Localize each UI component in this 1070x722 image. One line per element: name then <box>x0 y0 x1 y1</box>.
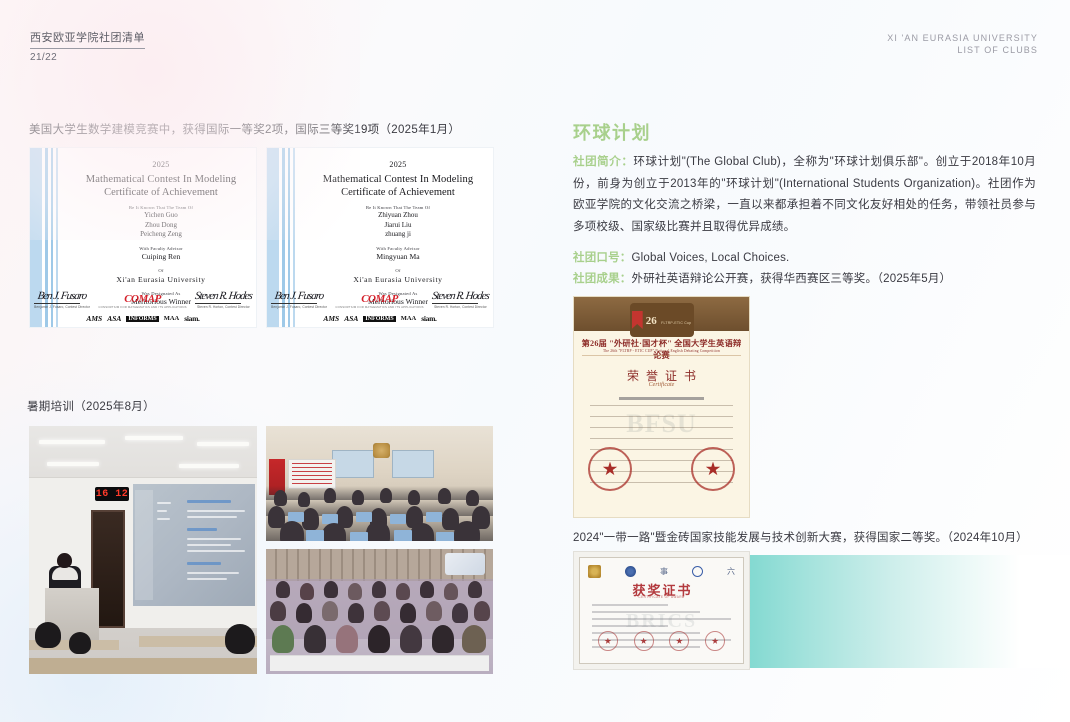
official-seal <box>669 631 689 651</box>
star-icon <box>604 638 611 645</box>
certificate-member: Zhou Dong <box>74 221 248 230</box>
star-icon <box>712 638 719 645</box>
certificate-advisor-label: With Faculty Advisor <box>311 246 485 251</box>
club-slogan-row: 社团口号：Global Voices, Local Choices. <box>573 248 1036 269</box>
siam-logo: siam. <box>421 314 436 323</box>
globe-icon <box>625 566 636 577</box>
certificate-title-line2: Certificate of Achievement <box>311 187 485 198</box>
digital-clock: 16 12 <box>95 487 129 501</box>
signature-right: Steven R. Hodes <box>431 290 489 302</box>
ribbon-icon <box>632 311 643 329</box>
right-column: 环球计划 社团简介：环球计划"(The Global Club)，全称为"环球计… <box>540 0 1070 722</box>
star-icon <box>676 638 683 645</box>
certificate-organization: Xi'an Eurasia University <box>74 275 248 284</box>
summer-training-caption: 暑期培训（2025年8月） <box>27 398 155 414</box>
certificate-member: Yichen Guo <box>74 211 248 220</box>
debate-certificate-photo: 26 FLTRP-ETIC Cup 第26届 "外研社·国才杯" 全国大学生英语… <box>573 296 750 518</box>
chinese-character-logo: 事 <box>660 566 668 577</box>
header-left: 西安欧亚学院社团清单 21/22 <box>30 28 145 63</box>
club-intro-text: 环球计划"(The Global Club)，全称为"环球计划俱乐部"。创立于2… <box>573 156 1036 233</box>
mcm-certificate-1: 2025 Mathematical Contest In Modeling Ce… <box>29 147 257 328</box>
certificate-team-intro: Be It Known That The Team Of <box>74 205 248 210</box>
club-achievement-row: 社团成果：外研社英语辩论公开赛，获得华西赛区三等奖。（2025年5月） <box>573 269 1036 290</box>
certificate-year: 2025 <box>74 160 248 169</box>
certificate-organization-logos: 事 六 <box>588 564 735 578</box>
certificate-member: zhuang ji <box>311 230 485 239</box>
certificate-team-intro: Be It Known That The Team Of <box>311 205 485 210</box>
signature-right-caption: Steven R. Horton, Contest Director <box>195 305 252 309</box>
siam-logo: siam. <box>184 314 199 323</box>
star-icon <box>706 462 721 477</box>
comap-logo: COMAP <box>98 293 186 305</box>
comap-logo-caption: CONSORTIUM FOR MATHEMATICS AND ITS APPLI… <box>98 305 186 309</box>
star-icon <box>640 638 647 645</box>
badge-edition-number: 26 <box>646 315 657 327</box>
award-certificate-subtitle: CERTIFICATE OF AWARD <box>580 595 743 599</box>
mcm-caption: 美国大学生数学建模竞赛中，获得国际一等奖2项，国际三等奖19项（2025年1月） <box>29 121 460 137</box>
classroom-lecture-photo: 16 12 <box>29 426 257 674</box>
competition-badge-icon: 26 FLTRP-ETIC Cup <box>630 303 694 337</box>
signature-left: Ben J. Fusaro <box>270 290 328 302</box>
certificate-of-label: Of <box>74 268 248 273</box>
ams-logo: AMS <box>86 314 102 323</box>
auditorium-group-photo <box>266 549 493 674</box>
official-seal-right <box>691 447 735 491</box>
ilo-icon <box>692 566 703 577</box>
club-slogan-label: 社团口号： <box>573 252 632 264</box>
comap-logo-caption: CONSORTIUM FOR MATHEMATICS AND ITS APPLI… <box>335 305 423 309</box>
mcm-certificate-2: 2025 Mathematical Contest In Modeling Ce… <box>266 147 494 328</box>
certificate-sponsor-logos: AMS ASA INFORMS MAA siam. <box>36 314 250 323</box>
page-canvas: 西安欧亚学院社团清单 21/22 XI 'AN EURASIA UNIVERSI… <box>0 0 1070 722</box>
certificate-member: Jiarui Liu <box>311 221 485 230</box>
signature-line <box>271 303 317 304</box>
certificate-advisor-label: With Faculty Advisor <box>74 246 248 251</box>
official-seal <box>705 631 725 651</box>
maa-logo: MAA <box>164 315 180 322</box>
left-column: 美国大学生数学建模竞赛中，获得国际一等奖2项，国际三等奖19项（2025年1月）… <box>0 0 540 722</box>
official-seal-left <box>588 447 632 491</box>
certificate-organization: Xi'an Eurasia University <box>311 275 485 284</box>
certificate-title-line1: Mathematical Contest In Modeling <box>74 174 248 185</box>
certificate-member: Zhiyuan Zhou <box>311 211 485 220</box>
certificate-year: 2025 <box>311 160 485 169</box>
award-certificate-seals <box>590 631 733 651</box>
signature-left-caption: Benjamin J. Fusaro, Contest Director <box>271 305 327 309</box>
signature-line <box>195 303 241 304</box>
club-intro-paragraph: 社团简介：环球计划"(The Global Club)，全称为"环球计划俱乐部"… <box>573 152 1036 238</box>
signature-left-caption: Benjamin J. Fusaro, Contest Director <box>34 305 90 309</box>
computer-lab-photo <box>266 426 493 541</box>
award-certificate-photo: 事 六 获奖证书 CERTIFICATE OF AWARD BRICS <box>573 551 750 670</box>
header-right: XI 'AN EURASIA UNIVERSITY LIST OF CLUBS <box>887 32 1038 56</box>
asa-logo: ASA <box>107 314 121 323</box>
certificate-title-line2: Certificate of Achievement <box>74 187 248 198</box>
emblem-icon <box>588 565 601 578</box>
certificate-of-label: Of <box>311 268 485 273</box>
signature-right-caption: Steven R. Horton, Contest Director <box>432 305 489 309</box>
signature-right: Steven R. Hodes <box>194 290 252 302</box>
badge-subtitle: FLTRP-ETIC Cup <box>661 321 691 325</box>
star-icon <box>603 462 618 477</box>
comap-logo: COMAP <box>335 293 423 305</box>
club-intro-block: 社团简介：环球计划"(The Global Club)，全称为"环球计划俱乐部"… <box>573 152 1036 238</box>
official-seal <box>598 631 618 651</box>
club-slogan-text: Global Voices, Local Choices. <box>632 252 790 264</box>
certificate-sponsor-logos: AMS ASA INFORMS MAA siam. <box>273 314 487 323</box>
signature-line <box>34 303 80 304</box>
certificate-footer-note <box>574 507 749 511</box>
club-achievement-label: 社团成果： <box>573 273 632 285</box>
document-title: 西安欧亚学院社团清单 <box>30 31 145 49</box>
club-achievement-text: 外研社英语辩论公开赛，获得华西赛区三等奖。（2025年5月） <box>632 273 952 285</box>
signature-left: Ben J. Fusaro <box>33 290 91 302</box>
club-slogan-block: 社团口号：Global Voices, Local Choices. 社团成果：… <box>573 248 1036 290</box>
chinese-character-logo-2: 六 <box>727 566 735 577</box>
club-intro-label: 社团简介： <box>573 156 633 168</box>
club-title: 环球计划 <box>573 119 651 145</box>
certificate-signature-row: Ben J. Fusaro Benjamin J. Fusaro, Contes… <box>267 290 493 309</box>
debate-certificate-title-en: The 26th "FLTRP - ETIC CUP" National Eng… <box>584 349 739 353</box>
ams-logo: AMS <box>323 314 339 323</box>
certificate-title-line1: Mathematical Contest In Modeling <box>311 174 485 185</box>
informs-logo: INFORMS <box>363 316 395 322</box>
informs-logo: INFORMS <box>126 316 158 322</box>
certificate-signature-row: Ben J. Fusaro Benjamin J. Fusaro, Contes… <box>30 290 256 309</box>
university-name: XI 'AN EURASIA UNIVERSITY <box>887 32 1038 44</box>
asa-logo: ASA <box>344 314 358 323</box>
certificate-advisor: Cuiping Ren <box>74 252 248 261</box>
official-seal <box>634 631 654 651</box>
certificate-advisor: Mingyuan Ma <box>311 252 485 261</box>
signature-line <box>432 303 478 304</box>
document-subtitle: LIST OF CLUBS <box>887 44 1038 56</box>
bottom-caption: 2024"一带一路"暨金砖国家技能发展与技术创新大赛，获得国家二等奖。（2024… <box>573 529 1028 545</box>
page-number: 21/22 <box>30 52 145 63</box>
debate-certificate-heading-en: Certificate <box>574 382 749 388</box>
certificate-member: Peicheng Zeng <box>74 230 248 239</box>
maa-logo: MAA <box>401 315 417 322</box>
